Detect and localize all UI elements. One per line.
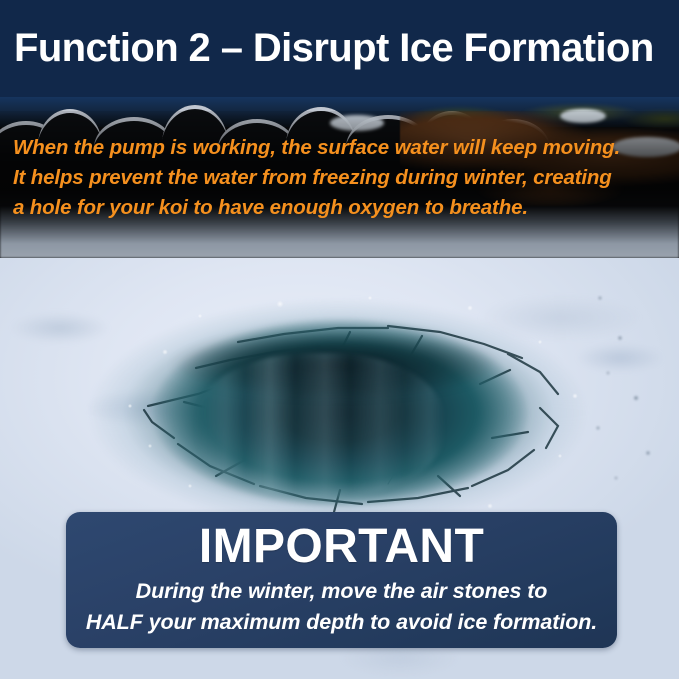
- important-callout-box: IMPORTANT During the winter, move the ai…: [66, 512, 617, 648]
- callout-body: During the winter, move the air stones t…: [80, 576, 603, 638]
- page-title: Function 2 – Disrupt Ice Formation: [14, 24, 669, 72]
- ice-bubbles: [70, 286, 610, 542]
- subtitle-line-2: It helps prevent the water from freezing…: [13, 163, 668, 193]
- subtitle-caption: When the pump is working, the surface wa…: [13, 133, 668, 223]
- subtitle-line-3: a hole for your koi to have enough oxyge…: [13, 193, 668, 223]
- title-band: Function 2 – Disrupt Ice Formation: [0, 0, 679, 97]
- winter-photo-band: When the pump is working, the surface wa…: [0, 97, 679, 258]
- infographic-card: Function 2 – Disrupt Ice Formation When …: [0, 0, 679, 679]
- callout-line-1: During the winter, move the air stones t…: [80, 576, 603, 607]
- callout-line-2: HALF your maximum depth to avoid ice for…: [80, 607, 603, 638]
- callout-title: IMPORTANT: [80, 520, 603, 574]
- subtitle-line-1: When the pump is working, the surface wa…: [13, 133, 668, 163]
